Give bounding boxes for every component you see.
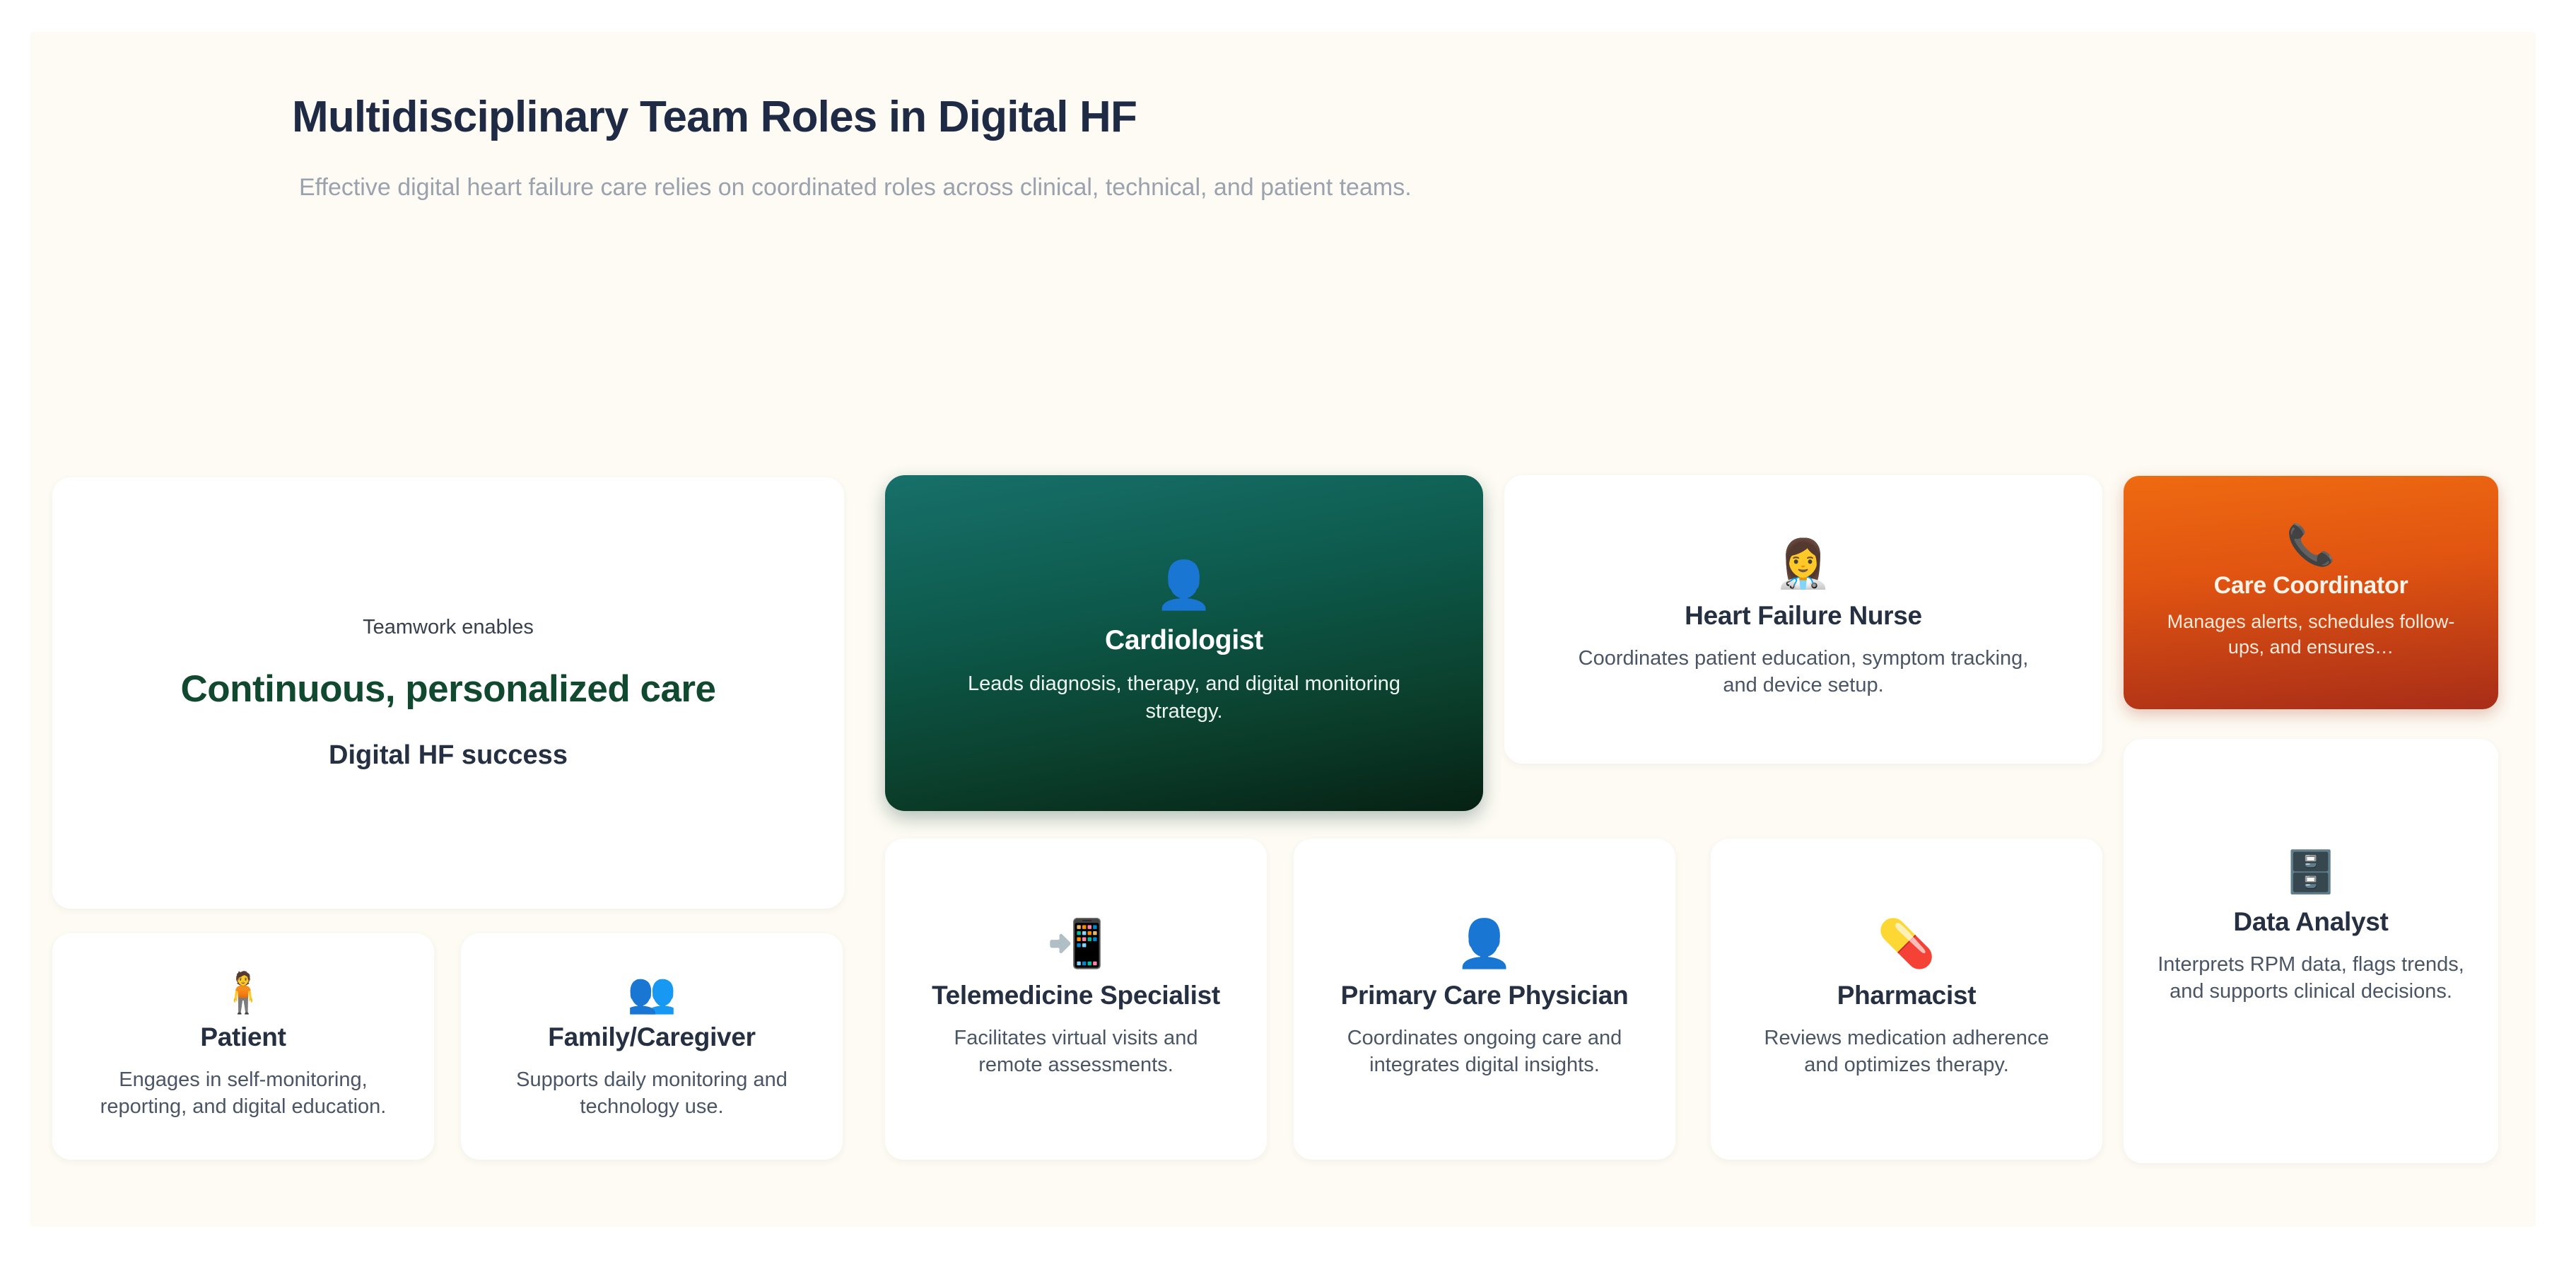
role-description-line2: integrates digital insights. bbox=[1369, 1054, 1600, 1076]
role-description-line1: Facilitates virtual visits and bbox=[954, 1027, 1198, 1049]
role-card-heart-failure-nurse[interactable]: 👩‍⚕️ Heart Failure Nurse Coordinates pat… bbox=[1504, 475, 2102, 764]
nurse-icon: 👩‍⚕️ bbox=[1774, 540, 1832, 587]
patient-check-icon: 🧍 bbox=[218, 973, 268, 1013]
role-card-telemedicine-specialist[interactable]: 📲 Telemedicine Specialist Facilitates vi… bbox=[885, 839, 1267, 1160]
page-subtitle: Effective digital heart failure care rel… bbox=[299, 174, 1412, 202]
role-title: Care Coordinator bbox=[2214, 572, 2408, 600]
role-description: Interprets RPM data, flags trends, and s… bbox=[2158, 951, 2464, 1005]
role-description: Coordinates ongoing care and integrates … bbox=[1347, 1025, 1622, 1079]
summary-card[interactable]: Teamwork enables Continuous, personalize… bbox=[52, 477, 844, 909]
role-description: Supports daily monitoring and technology… bbox=[516, 1066, 788, 1121]
role-description-line2: strategy. bbox=[1145, 700, 1222, 723]
person-silhouette-icon: 👤 bbox=[1456, 920, 1514, 967]
role-title: Patient bbox=[200, 1022, 286, 1052]
role-title: Primary Care Physician bbox=[1341, 981, 1629, 1010]
role-description-line1: Coordinates ongoing care and bbox=[1347, 1027, 1622, 1049]
role-card-primary-care-physician[interactable]: 👤 Primary Care Physician Coordinates ong… bbox=[1294, 839, 1675, 1160]
role-description-line2: technology use. bbox=[580, 1095, 723, 1118]
role-title: Pharmacist bbox=[1837, 981, 1977, 1010]
summary-eyebrow: Teamwork enables bbox=[363, 616, 534, 639]
role-description: Engages in self-monitoring, reporting, a… bbox=[100, 1066, 387, 1121]
role-description: Manages alerts, schedules follow-ups, an… bbox=[2152, 610, 2470, 660]
summary-subtext: Digital HF success bbox=[329, 740, 568, 771]
role-description: Coordinates patient education, symptom t… bbox=[1579, 645, 2029, 699]
page-title: Multidisciplinary Team Roles in Digital … bbox=[292, 92, 1412, 142]
role-title: Heart Failure Nurse bbox=[1685, 601, 1922, 631]
role-description-line2: and optimizes therapy. bbox=[1804, 1054, 2009, 1076]
database-chart-icon: 🗄️ bbox=[2285, 852, 2336, 893]
role-title: Data Analyst bbox=[2233, 907, 2388, 937]
role-title: Family/Caregiver bbox=[548, 1022, 755, 1052]
role-description: Reviews medication adherence and optimiz… bbox=[1764, 1025, 2049, 1079]
role-description-line1: Reviews medication adherence bbox=[1764, 1027, 2049, 1049]
doctor-icon: 👤 bbox=[1155, 561, 1213, 608]
role-description: Leads diagnosis, therapy, and digital mo… bbox=[968, 670, 1400, 725]
role-card-data-analyst[interactable]: 🗄️ Data Analyst Interprets RPM data, fla… bbox=[2124, 739, 2498, 1163]
role-description-line2: reporting, and digital education. bbox=[100, 1095, 387, 1118]
role-description-line1: Interprets RPM data, flags trends, bbox=[2158, 953, 2464, 976]
role-description-line1: Coordinates patient education, symptom t… bbox=[1579, 647, 2029, 670]
summary-headline: Continuous, personalized care bbox=[180, 667, 715, 711]
phone-24h-icon: 📞 bbox=[2286, 525, 2336, 565]
role-card-pharmacist[interactable]: 💊 Pharmacist Reviews medication adherenc… bbox=[1711, 839, 2102, 1160]
role-title: Telemedicine Specialist bbox=[932, 981, 1220, 1010]
role-description-line1: Engages in self-monitoring, bbox=[119, 1068, 367, 1091]
role-card-family-caregiver[interactable]: 👥 Family/Caregiver Supports daily monito… bbox=[461, 933, 843, 1160]
role-description-line2: and device setup. bbox=[1723, 674, 1883, 696]
page-header: Multidisciplinary Team Roles in Digital … bbox=[292, 92, 1412, 202]
role-card-cardiologist[interactable]: 👤 Cardiologist Leads diagnosis, therapy,… bbox=[885, 475, 1483, 811]
pills-icon: 💊 bbox=[1878, 920, 1936, 967]
role-card-patient[interactable]: 🧍 Patient Engages in self-monitoring, re… bbox=[52, 933, 434, 1160]
role-description-line2: remote assessments. bbox=[978, 1054, 1173, 1076]
mobile-download-icon: 📲 bbox=[1047, 920, 1105, 967]
role-title: Cardiologist bbox=[1105, 625, 1263, 656]
role-card-care-coordinator[interactable]: 📞 Care Coordinator Manages alerts, sched… bbox=[2124, 476, 2498, 709]
role-description-line2: and supports clinical decisions. bbox=[2170, 980, 2452, 1003]
role-description-line1: Supports daily monitoring and bbox=[516, 1068, 788, 1091]
people-group-icon: 👥 bbox=[627, 973, 677, 1013]
role-description: Facilitates virtual visits and remote as… bbox=[954, 1025, 1198, 1079]
role-description-line1: Leads diagnosis, therapy, and digital mo… bbox=[968, 672, 1400, 695]
